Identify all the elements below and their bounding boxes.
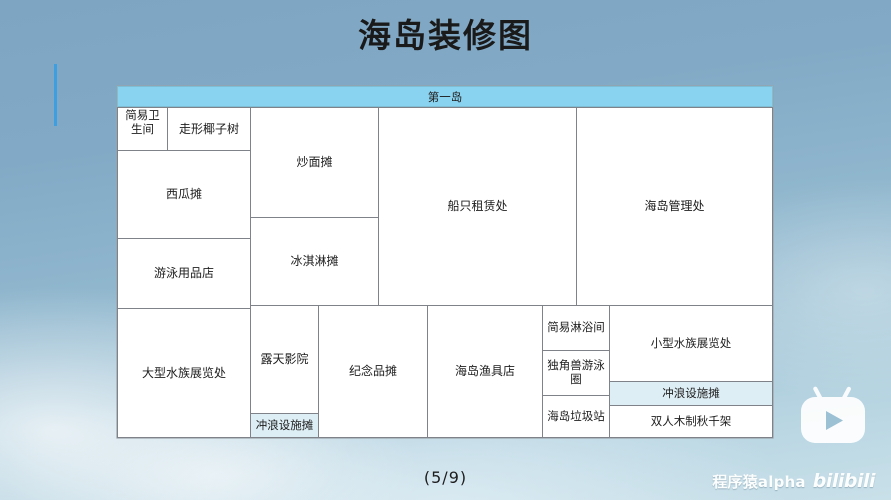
table-cell-unicorn-swim-ring: 独角兽游泳圈 [542,350,610,396]
table-cell-bent-coconut-tree: 走形椰子树 [167,107,251,151]
table-grid: 简易卫生间 走形椰子树 炒面摊 船只租赁处 海岛管理处 西瓜摊 冰淇淋摊 游泳用… [117,107,773,438]
table-cell-watermelon-stall: 西瓜摊 [117,150,251,239]
bilibili-tv-icon [797,384,869,448]
table-cell-surf-facility-stall-left: 冲浪设施摊 [250,413,319,438]
table-cell-simple-toilet: 简易卫生间 [117,107,168,151]
table-cell-swim-supplies-shop: 游泳用品店 [117,238,251,309]
slide-canvas: 海岛装修图 第一岛 简易卫生间 走形椰子树 炒面摊 船只租赁处 海岛管理处 西瓜… [0,0,891,500]
table-cell-open-air-cinema: 露天影院 [250,305,319,414]
table-cell-island-management: 海岛管理处 [576,107,773,306]
watermark-author: 程序猿alpha [712,471,805,492]
watermark-brand: bilibili [813,470,875,492]
table-cell-souvenir-stall: 纪念品摊 [318,305,428,438]
table-cell-simple-shower-room: 简易淋浴间 [542,305,610,351]
table-cell-large-aquarium: 大型水族展览处 [117,308,251,438]
watermark: 程序猿alpha bilibili [712,470,875,492]
table-cell-double-wooden-swing: 双人木制秋千架 [609,405,773,438]
table-cell-island-trash-station: 海岛垃圾站 [542,395,610,438]
table-cell-boat-rental: 船只租赁处 [378,107,577,306]
table-cell-ice-cream-stall: 冰淇淋摊 [250,217,379,306]
table-header-first-island: 第一岛 [117,86,773,107]
table-cell-island-fishing-shop: 海岛渔具店 [427,305,543,438]
table-cell-fried-noodle-stall: 炒面摊 [250,107,379,218]
island-layout-table: 第一岛 简易卫生间 走形椰子树 炒面摊 船只租赁处 海岛管理处 西瓜摊 冰淇淋摊… [117,86,773,438]
table-cell-surf-facility-stall-right: 冲浪设施摊 [609,381,773,406]
table-cell-small-aquarium: 小型水族展览处 [609,305,773,382]
page-title: 海岛装修图 [0,14,891,58]
accent-bar [54,64,57,126]
